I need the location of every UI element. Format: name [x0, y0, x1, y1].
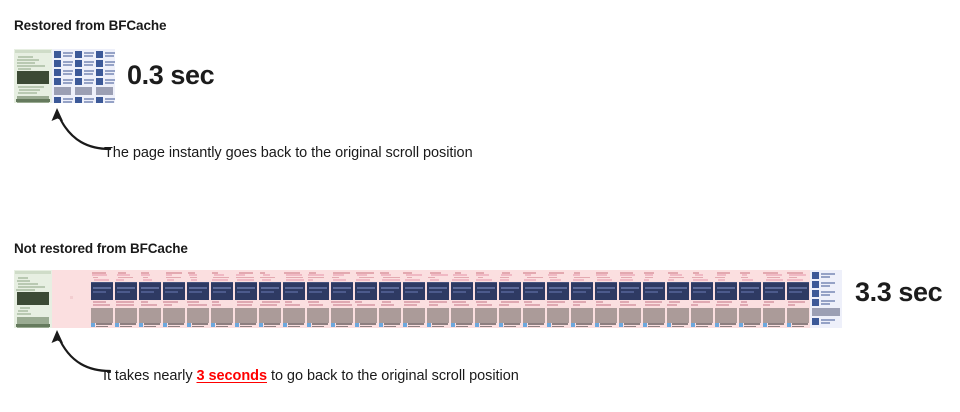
frame-reloading-page [450, 270, 474, 328]
frame-restored-page-2 [73, 49, 94, 103]
curved-arrow-up-left-icon-restored [48, 108, 110, 153]
caption-not-restored: It takes nearly 3 seconds to go back to … [103, 368, 519, 384]
frame-reloading-page [594, 270, 618, 328]
frame-original-scrolled-page [14, 49, 52, 103]
frame-reloading-page [186, 270, 210, 328]
frame-reloading-page [210, 270, 234, 328]
frame-reloading-page [690, 270, 714, 328]
frame-restored-page [810, 270, 842, 328]
frame-reloading-page [642, 270, 666, 328]
frame-restored-page-3 [94, 49, 115, 103]
frame-reloading-page [330, 270, 354, 328]
frame-reloading-page [90, 270, 114, 328]
frame-reloading-page [666, 270, 690, 328]
duration-label-restored: 0.3 sec [127, 60, 214, 91]
frame-reloading-page [498, 270, 522, 328]
frame-reloading-page [138, 270, 162, 328]
frame-reloading-page [378, 270, 402, 328]
no-bfcache-filmstrip [14, 270, 844, 328]
frame-reloading-page [234, 270, 258, 328]
frame-reloading-page [618, 270, 642, 328]
caption-text: It takes nearly [103, 368, 197, 384]
frame-restored-page-1 [52, 49, 73, 103]
frame-reloading-page [738, 270, 762, 328]
bfcache-restored-filmstrip [14, 49, 115, 103]
frame-reloading-page [570, 270, 594, 328]
frame-reloading-page [474, 270, 498, 328]
curved-arrow-up-left-icon-not-restored [48, 330, 110, 375]
caption-restored: The page instantly goes back to the orig… [104, 145, 473, 161]
frame-reloading-page [546, 270, 570, 328]
frame-reloading-page [786, 270, 810, 328]
section-heading-not-restored: Not restored from BFCache [14, 241, 188, 256]
frame-reloading-page [306, 270, 330, 328]
caption-highlight-3-seconds: 3 seconds [197, 368, 267, 384]
section-heading-restored: Restored from BFCache [14, 18, 166, 33]
frame-reloading-page [354, 270, 378, 328]
caption-text: to go back to the original scroll positi… [267, 368, 519, 384]
frame-reloading-page [402, 270, 426, 328]
frame-reloading-page [282, 270, 306, 328]
frame-reloading-page [426, 270, 450, 328]
frame-reloading-page [114, 270, 138, 328]
frame-blank-white-page [52, 270, 90, 328]
frame-reloading-page [258, 270, 282, 328]
frame-reloading-page [162, 270, 186, 328]
duration-label-not-restored: 3.3 sec [855, 277, 942, 308]
frame-reloading-page [762, 270, 786, 328]
frame-reloading-page [522, 270, 546, 328]
frame-original-scrolled-page [14, 270, 52, 328]
frame-reloading-page [714, 270, 738, 328]
